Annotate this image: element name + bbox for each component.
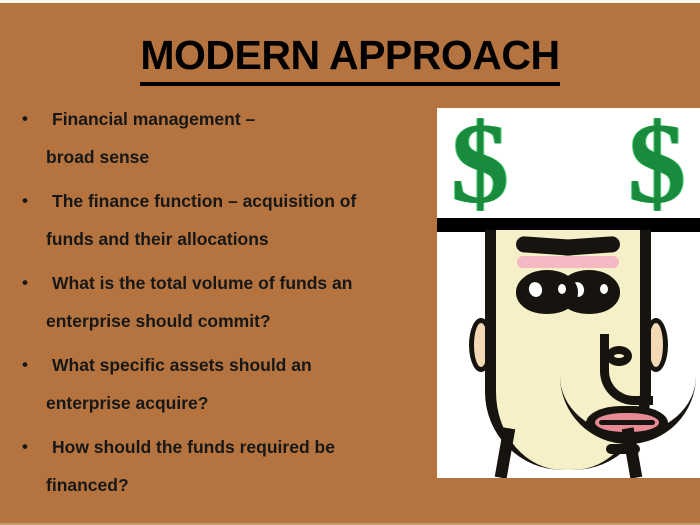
dollar-sign-band: $ $ [437, 108, 700, 218]
eyelid-right-icon [517, 256, 577, 268]
list-item: • The finance function – acquisition of … [10, 182, 430, 258]
bullet-text: broad sense [46, 138, 430, 176]
bullet-line: • The finance function – acquisition of [10, 182, 430, 220]
list-item: • How should the funds required be finan… [10, 428, 430, 504]
bullet-marker-icon: • [16, 100, 34, 138]
bullet-line-continued: financed? [10, 466, 430, 504]
eye-right-icon [516, 270, 578, 314]
bullet-marker-icon: • [16, 346, 34, 384]
bullet-marker-icon: • [16, 428, 34, 466]
bullet-text: enterprise should commit? [46, 302, 430, 340]
eye-glint-secondary [600, 284, 608, 294]
bullet-line: • What is the total volume of funds an [10, 264, 430, 302]
bullet-text: What is the total volume of funds an [52, 264, 430, 302]
list-item: • What is the total volume of funds an e… [10, 264, 430, 340]
slide-image: $ $ [437, 108, 700, 478]
bullet-list: • Financial management – broad sense • T… [10, 100, 430, 510]
list-item: • What specific assets should an enterpr… [10, 346, 430, 422]
bullet-text: What specific assets should an [52, 346, 430, 384]
bullet-text: The finance function – acquisition of [52, 182, 430, 220]
bullet-line-continued: enterprise should commit? [10, 302, 430, 340]
eye-glint-secondary [558, 284, 566, 294]
bullet-line-continued: broad sense [10, 138, 430, 176]
bullet-text: How should the funds required be [52, 428, 430, 466]
bullet-text: enterprise acquire? [46, 384, 430, 422]
bullet-line: • What specific assets should an [10, 346, 430, 384]
list-item: • Financial management – broad sense [10, 100, 430, 176]
page-title: MODERN APPROACH [0, 30, 700, 86]
bullet-line-continued: funds and their allocations [10, 220, 430, 258]
bullet-marker-icon: • [16, 264, 34, 302]
bullet-line: • Financial management – [10, 100, 430, 138]
eyebrow-right-icon [516, 236, 579, 256]
bullet-text: Financial management – [52, 100, 430, 138]
nostril-icon [606, 346, 632, 366]
bullet-line: • How should the funds required be [10, 428, 430, 466]
eye-glint [527, 280, 544, 298]
bullet-text: financed? [46, 466, 430, 504]
bullet-text: funds and their allocations [46, 220, 430, 258]
bullet-line-continued: enterprise acquire? [10, 384, 430, 422]
cartoon-face [437, 232, 700, 478]
dollar-sign-icon: $ [451, 110, 509, 218]
slide-top-edge [0, 0, 700, 3]
slide-canvas: MODERN APPROACH • Financial management –… [0, 0, 700, 525]
dollar-sign-icon-right: $ [628, 110, 686, 218]
page-title-text: MODERN APPROACH [140, 30, 559, 86]
bullet-marker-icon: • [16, 182, 34, 220]
